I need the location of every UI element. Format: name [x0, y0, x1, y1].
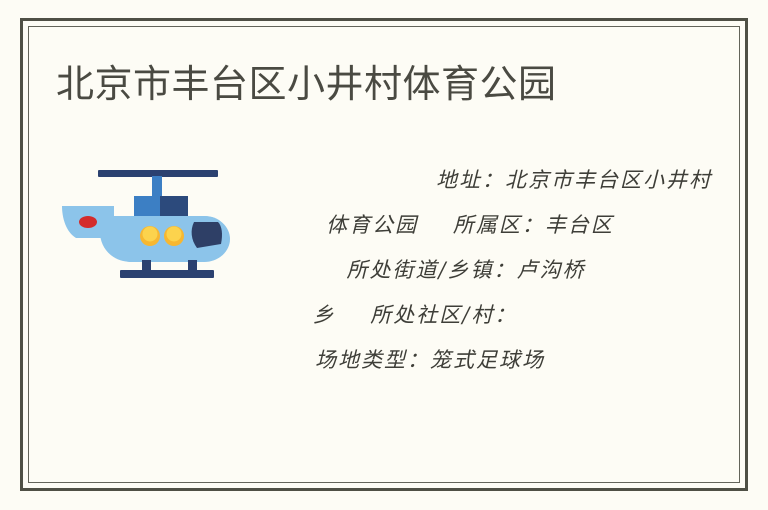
info-line-3: 所处街道/乡镇：卢沟桥 [208, 248, 718, 293]
info-line-5: 场地类型：笼式足球场 [208, 338, 718, 383]
page-title: 北京市丰台区小井村体育公园 [56, 62, 557, 110]
info-line-1: 地址：北京市丰台区小井村 [208, 158, 718, 203]
info-card: 北京市丰台区小井村体育公园 [0, 0, 768, 510]
card-content: 地址：北京市丰台区小井村 体育公园 所属区：丰台区 所处街道/乡镇：卢沟桥 乡 … [28, 150, 740, 420]
info-line-2: 体育公园 所属区：丰台区 [208, 203, 718, 248]
info-line-4: 乡 所处社区/村： [208, 293, 718, 338]
venue-info-block: 地址：北京市丰台区小井村 体育公园 所属区：丰台区 所处街道/乡镇：卢沟桥 乡 … [208, 158, 718, 383]
